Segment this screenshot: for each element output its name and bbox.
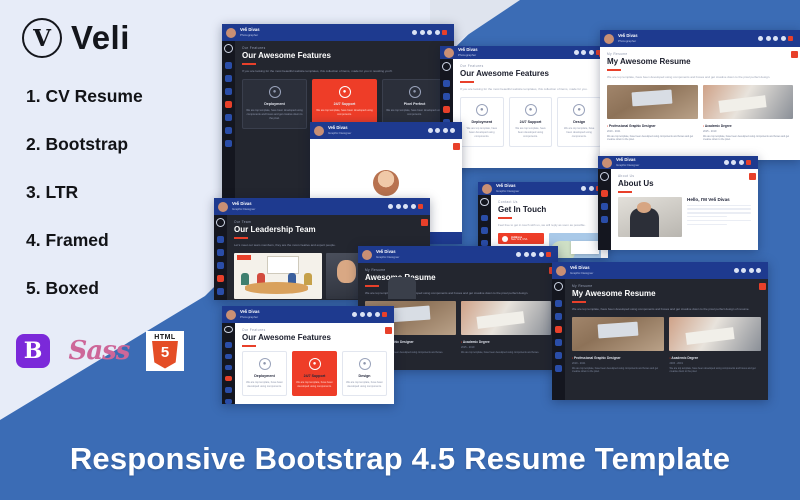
section-title: My Awesome Resume [607, 58, 793, 66]
feature-card[interactable]: ● Deployment We are top template, have b… [460, 97, 504, 146]
resume-block-date: 2019 - 2021 [607, 130, 697, 133]
mockup-features-light-mid[interactable]: Veli Divas Photographer Our Features Our… [440, 46, 608, 168]
rail-item-resume[interactable] [225, 365, 232, 370]
resume-blocks: Professional Graphic Designer 2019 - 202… [572, 356, 761, 374]
veli-v-icon: V [22, 18, 62, 58]
mockup-user-role: Graphic Designer [376, 256, 399, 259]
feature-card-title: Design [346, 374, 383, 378]
mockup-user-name: Veli Divas [616, 158, 639, 162]
resume-block-text: We are top template, have been developed… [572, 367, 664, 375]
social-dots[interactable] [412, 30, 450, 35]
about-photo [618, 197, 682, 237]
close-icon[interactable] [385, 327, 392, 334]
close-icon[interactable] [421, 219, 428, 226]
feature-card-text: We are top template, have been developed… [513, 127, 549, 139]
feature-list-item: 5. Boxed [26, 278, 206, 299]
pen-icon: ● [359, 358, 371, 370]
resume-block-title: Professional Graphic Designer [607, 124, 697, 128]
resume-block-date: 2019 - 2021 [572, 362, 664, 365]
resume-block-text: We are top template, have been developed… [461, 351, 551, 355]
sass-icon: Sass [80, 332, 118, 370]
contact-item-address[interactable]: Address New York, USA [498, 233, 544, 244]
desk-photo [607, 85, 698, 119]
title-underline [607, 69, 621, 70]
feature-card-text: We are top template, have been developed… [296, 381, 333, 389]
rail-logo-icon [600, 172, 609, 181]
contact-value: New York, USA [511, 239, 527, 241]
rail-item-resume[interactable] [555, 326, 562, 333]
rail-item-team[interactable] [555, 352, 562, 359]
mockup-user-name: Veli Divas [496, 184, 519, 188]
rail-logo-icon [442, 62, 451, 71]
mockup-user-role: Graphic Designer [616, 164, 639, 167]
mockup-topbar: Veli Divas Photographer [440, 46, 608, 59]
team-badge [237, 255, 251, 260]
brand-logo: V Veli [22, 18, 130, 58]
resume-block-text: We are top template, have been developed… [607, 135, 697, 143]
feature-list-item: 2. Bootstrap [26, 134, 206, 155]
mockup-user-name: Veli Divas [618, 34, 638, 38]
rail-item-team[interactable] [217, 275, 224, 282]
resume-block: Academic Degree 2015 - 2019 We are top t… [670, 356, 762, 374]
html5-icon: HTML 5 [146, 332, 184, 370]
section-kicker: My Resume [572, 285, 761, 288]
section-title: Our Awesome Features [242, 334, 387, 342]
hands-photo [669, 317, 761, 351]
mockup-topbar: Veli Divas Graphic Designer [552, 262, 768, 279]
title-underline [572, 301, 586, 302]
mockup-about[interactable]: Veli Divas Graphic Designer About Us Abo… [598, 156, 758, 250]
feature-card-title: Deployment [464, 120, 500, 124]
social-dots[interactable] [516, 252, 554, 257]
bottom-banner: Responsive Bootstrap 4.5 Resume Template [0, 418, 800, 500]
html5-word: HTML [154, 334, 175, 341]
social-dots[interactable] [724, 160, 755, 165]
section-title: Get In Touch [498, 206, 601, 214]
mockup-user-name: Veli Divas [232, 202, 255, 206]
feature-list-item: 1. CV Resume [26, 86, 206, 107]
avatar [444, 48, 454, 58]
feature-card-title: 24/7 Support [513, 120, 549, 124]
mockup-page: Our Features Our Awesome Features If you… [453, 59, 608, 168]
feature-card-title: 24/7 Support [296, 374, 333, 378]
rail-item-resume[interactable] [601, 203, 608, 210]
sidebar-rail[interactable] [552, 279, 565, 400]
section-lead: We are top template, have been developed… [607, 75, 793, 80]
about-row: Hello, I'M Veli Divas [618, 197, 751, 237]
table-shape [245, 282, 308, 294]
feature-card[interactable]: ● Deployment We are top template, have b… [242, 79, 307, 128]
rail-item-resume[interactable] [225, 88, 232, 95]
mockup-user-role: Photographer [618, 40, 638, 43]
feature-cards: ● Deployment We are top template, have b… [460, 97, 601, 146]
rail-item-resume[interactable] [481, 240, 488, 246]
rocket-icon: ● [259, 358, 271, 370]
social-dots[interactable] [428, 128, 459, 133]
resume-block: Professional Graphic Designer 2019 - 202… [607, 124, 697, 142]
feature-list: 1. CV Resume 2. Bootstrap 3. LTR 4. Fram… [26, 86, 206, 326]
left-info-panel: V Veli 1. CV Resume 2. Bootstrap 3. LTR … [0, 0, 210, 420]
hands-photo [461, 301, 552, 335]
rail-item-contact[interactable] [217, 288, 224, 295]
rail-item-about[interactable] [481, 227, 488, 233]
hands-photo [703, 85, 794, 119]
mockup-user-role: Photographer [240, 34, 260, 37]
avatar [602, 158, 612, 168]
rail-item-features[interactable] [225, 376, 232, 381]
brand-name: Veli [71, 19, 130, 57]
rail-item-about[interactable] [555, 313, 562, 320]
title-underline [234, 237, 248, 238]
feature-card-text: We are top template, have been developed… [316, 109, 373, 117]
feature-card-title: Deployment [246, 102, 303, 106]
resume-block: Academic Degree 2015 - 2019 We are top t… [461, 340, 551, 354]
avatar [604, 34, 614, 44]
feature-card-text: We are top template, have been developed… [464, 127, 500, 139]
resume-block: Academic Degree 2015 - 2019 We are top t… [703, 124, 793, 142]
resume-images [572, 317, 761, 351]
mockup-user-role: Graphic Designer [328, 132, 351, 135]
about-text: Hello, I'M Veli Divas [687, 197, 751, 237]
rail-item-about[interactable] [217, 249, 224, 256]
rail-item-team[interactable] [225, 387, 232, 392]
section-kicker: Contact Us [498, 201, 601, 204]
rail-logo-icon [554, 282, 563, 291]
mockup-resume-dark-bottom[interactable]: Veli Divas Graphic Designer My Resume My… [552, 262, 768, 400]
mockup-page: My Resume My Awesome Resume We are top t… [565, 279, 768, 400]
title-underline [498, 217, 512, 218]
location-icon [502, 236, 508, 242]
mockup-user-name: Veli Divas [376, 250, 399, 254]
feature-card-title: Deployment [246, 374, 283, 378]
section-title: Our Awesome Features [460, 70, 601, 78]
mockup-features-light-bottom[interactable]: Veli Divas Photographer Our Features Our… [222, 306, 394, 404]
resume-block-date: 2015 - 2019 [703, 130, 793, 133]
mockup-topbar: Veli Divas Graphic Designer [214, 198, 430, 215]
sidebar-rail[interactable] [214, 215, 227, 300]
feature-card-title: Design [561, 120, 597, 124]
feature-card-text: We are top template, have been developed… [346, 381, 383, 389]
title-underline [242, 63, 256, 64]
feature-card[interactable]: ● Deployment We are top template, have b… [242, 351, 287, 396]
resume-block-date: 2015 - 2019 [461, 346, 551, 349]
sidebar-rail[interactable] [598, 169, 611, 250]
pen-icon: ● [409, 86, 421, 98]
mockup-page: About Us About Us Hello, I'M Veli Divas [611, 169, 758, 250]
rail-item-home[interactable] [555, 300, 562, 307]
rocket-icon: ● [269, 86, 281, 98]
mockup-topbar: Veli Divas Photographer [600, 30, 800, 47]
banner-headline: Responsive Bootstrap 4.5 Resume Template [70, 441, 730, 477]
avatar [218, 202, 228, 212]
map-popup [571, 241, 599, 254]
mockup-topbar: Veli Divas Graphic Designer [478, 182, 608, 195]
rail-item-contact[interactable] [225, 399, 232, 404]
poster-stage: Veli Divas Photographer Our Features Our… [0, 0, 800, 500]
mockup-page: My Resume My Awesome Resume We are top t… [600, 47, 800, 160]
mockup-user-name: Veli Divas [328, 126, 351, 130]
avatar [556, 266, 566, 276]
resume-block-text: We are top template, have been developed… [670, 367, 762, 375]
rail-item-about[interactable] [601, 190, 608, 197]
mockup-resume-light[interactable]: Veli Divas Photographer My Resume My Awe… [600, 30, 800, 160]
close-icon[interactable] [749, 173, 756, 180]
section-title: Our Awesome Features [242, 52, 447, 60]
mockup-topbar: Veli Divas Photographer [222, 306, 394, 323]
headset-icon: ● [339, 86, 351, 98]
resume-block-title: Academic Degree [703, 124, 793, 128]
rail-item-features[interactable] [443, 106, 450, 113]
section-title: My Awesome Resume [572, 290, 761, 298]
resume-block: Professional Graphic Designer 2019 - 202… [572, 356, 664, 374]
rail-item-features[interactable] [555, 339, 562, 346]
feature-card-text: We are top template, have been developed… [386, 109, 443, 117]
mockup-topbar: Veli Divas Photographer [222, 24, 454, 41]
close-icon[interactable] [453, 143, 460, 150]
team-illustration [234, 253, 322, 299]
html5-number: 5 [152, 341, 178, 369]
rail-item-contact[interactable] [225, 140, 232, 147]
feature-card-title: 24/7 Support [316, 102, 373, 106]
resume-block-text: We are top template, have been developed… [703, 135, 793, 143]
section-kicker: Our Features [460, 65, 601, 68]
section-kicker: My Resume [607, 53, 793, 56]
section-kicker: Our Features [242, 47, 447, 50]
desk-photo [572, 317, 664, 351]
rail-item-home[interactable] [225, 62, 232, 69]
mockup-user-role: Photographer [240, 316, 260, 319]
close-icon[interactable] [791, 51, 798, 58]
mockup-user-name: Veli Divas [570, 266, 593, 270]
social-dots[interactable] [758, 36, 796, 41]
feature-cards: ● Deployment We are top template, have b… [242, 351, 387, 396]
close-icon[interactable] [759, 283, 766, 290]
sidebar-rail[interactable] [222, 41, 235, 200]
feature-card-text: We are top template, have been developed… [246, 381, 283, 389]
mockup-user-role: Graphic Designer [496, 190, 519, 193]
social-dots[interactable] [388, 204, 426, 209]
rail-item-home[interactable] [217, 236, 224, 243]
rail-item-portfolio[interactable] [225, 127, 232, 134]
rail-item-about[interactable] [443, 93, 450, 100]
avatar [314, 126, 324, 136]
section-kicker: My Resume [365, 269, 551, 272]
feature-card-title: Pixel Perfect [386, 102, 443, 106]
title-underline [365, 285, 379, 286]
mockup-user-name: Veli Divas [240, 28, 260, 32]
resume-block-title: Academic Degree [461, 340, 551, 344]
feature-card[interactable]: ● 24/7 Support We are top template, have… [509, 97, 553, 146]
rail-item-home[interactable] [225, 342, 232, 347]
mockup-user-name: Veli Divas [458, 48, 478, 52]
section-kicker: Our Team [234, 221, 423, 224]
rail-item-about[interactable] [225, 354, 232, 359]
mockup-page: Our Features Our Awesome Features ● Depl… [235, 323, 394, 404]
social-dots[interactable] [734, 268, 765, 273]
about-heading: Hello, I'M Veli Divas [687, 197, 751, 202]
title-underline [460, 81, 474, 82]
avatar [362, 250, 372, 260]
resume-block-title: Academic Degree [670, 356, 762, 360]
bootstrap-icon: B [14, 332, 52, 370]
headset-icon: ● [309, 358, 321, 370]
section-lead: If you are looking for the most beautifu… [242, 69, 447, 74]
rail-item-contact[interactable] [601, 216, 608, 223]
rail-item-resume[interactable] [217, 262, 224, 269]
sass-label: Sass [69, 336, 130, 366]
feature-card[interactable]: ● Design We are top template, have been … [557, 97, 601, 146]
mockup-user-name: Veli Divas [240, 310, 260, 314]
rail-logo-icon [224, 44, 233, 53]
rail-item-team[interactable] [225, 114, 232, 121]
feature-card-text: We are top template, have been developed… [561, 127, 597, 139]
section-title: About Us [618, 180, 751, 188]
rail-item-about[interactable] [225, 75, 232, 82]
rail-item-contact[interactable] [555, 365, 562, 372]
avatar [373, 170, 399, 196]
mockup-user-role: Photographer [458, 54, 478, 57]
rail-item-features[interactable] [225, 101, 232, 108]
avatar [482, 184, 492, 194]
feature-list-item: 3. LTR [26, 182, 206, 203]
avatar [226, 310, 236, 320]
resume-block-date: 2015 - 2019 [670, 362, 762, 365]
headset-icon: ● [525, 104, 537, 116]
resume-blocks: Professional Graphic Designer 2019 - 202… [607, 124, 793, 142]
pen-icon: ● [573, 104, 585, 116]
section-kicker: About Us [618, 175, 751, 178]
section-lead: Feel free to get in touch with us, we wi… [498, 223, 601, 228]
mockup-topbar: Veli Divas Graphic Designer [358, 246, 558, 263]
whiteboard-icon [267, 256, 299, 274]
rail-item-home[interactable] [443, 80, 450, 87]
rail-logo-icon [480, 198, 489, 206]
section-lead: If you are looking for the most beautifu… [460, 87, 601, 92]
resume-block-title: Professional Graphic Designer [572, 356, 664, 360]
rocket-icon: ● [476, 104, 488, 116]
title-underline [242, 345, 256, 346]
mockup-user-role: Graphic Designer [570, 272, 593, 275]
sidebar-rail[interactable] [222, 323, 235, 404]
feature-card[interactable]: ● 24/7 Support We are top template, have… [292, 351, 337, 396]
resume-images [607, 85, 793, 119]
feature-list-item: 4. Framed [26, 230, 206, 251]
title-underline [618, 191, 632, 192]
section-title: Our Leadership Team [234, 226, 423, 234]
social-dots[interactable] [352, 312, 390, 317]
feature-card-text: We are top template, have been developed… [246, 109, 303, 121]
rail-logo-icon [216, 218, 225, 227]
mockup-user-role: Graphic Designer [232, 208, 255, 211]
tech-logos: B Sass HTML 5 [14, 332, 184, 370]
section-lead: We are top template, have been developed… [572, 307, 761, 312]
section-kicker: Our Features [242, 329, 387, 332]
mockup-topbar: Veli Divas Graphic Designer [310, 122, 462, 139]
avatar [226, 28, 236, 38]
rail-item-home[interactable] [481, 215, 488, 221]
feature-card[interactable]: ● Design We are top template, have been … [342, 351, 387, 396]
mockup-topbar: Veli Divas Graphic Designer [598, 156, 758, 169]
rail-logo-icon [224, 326, 233, 333]
